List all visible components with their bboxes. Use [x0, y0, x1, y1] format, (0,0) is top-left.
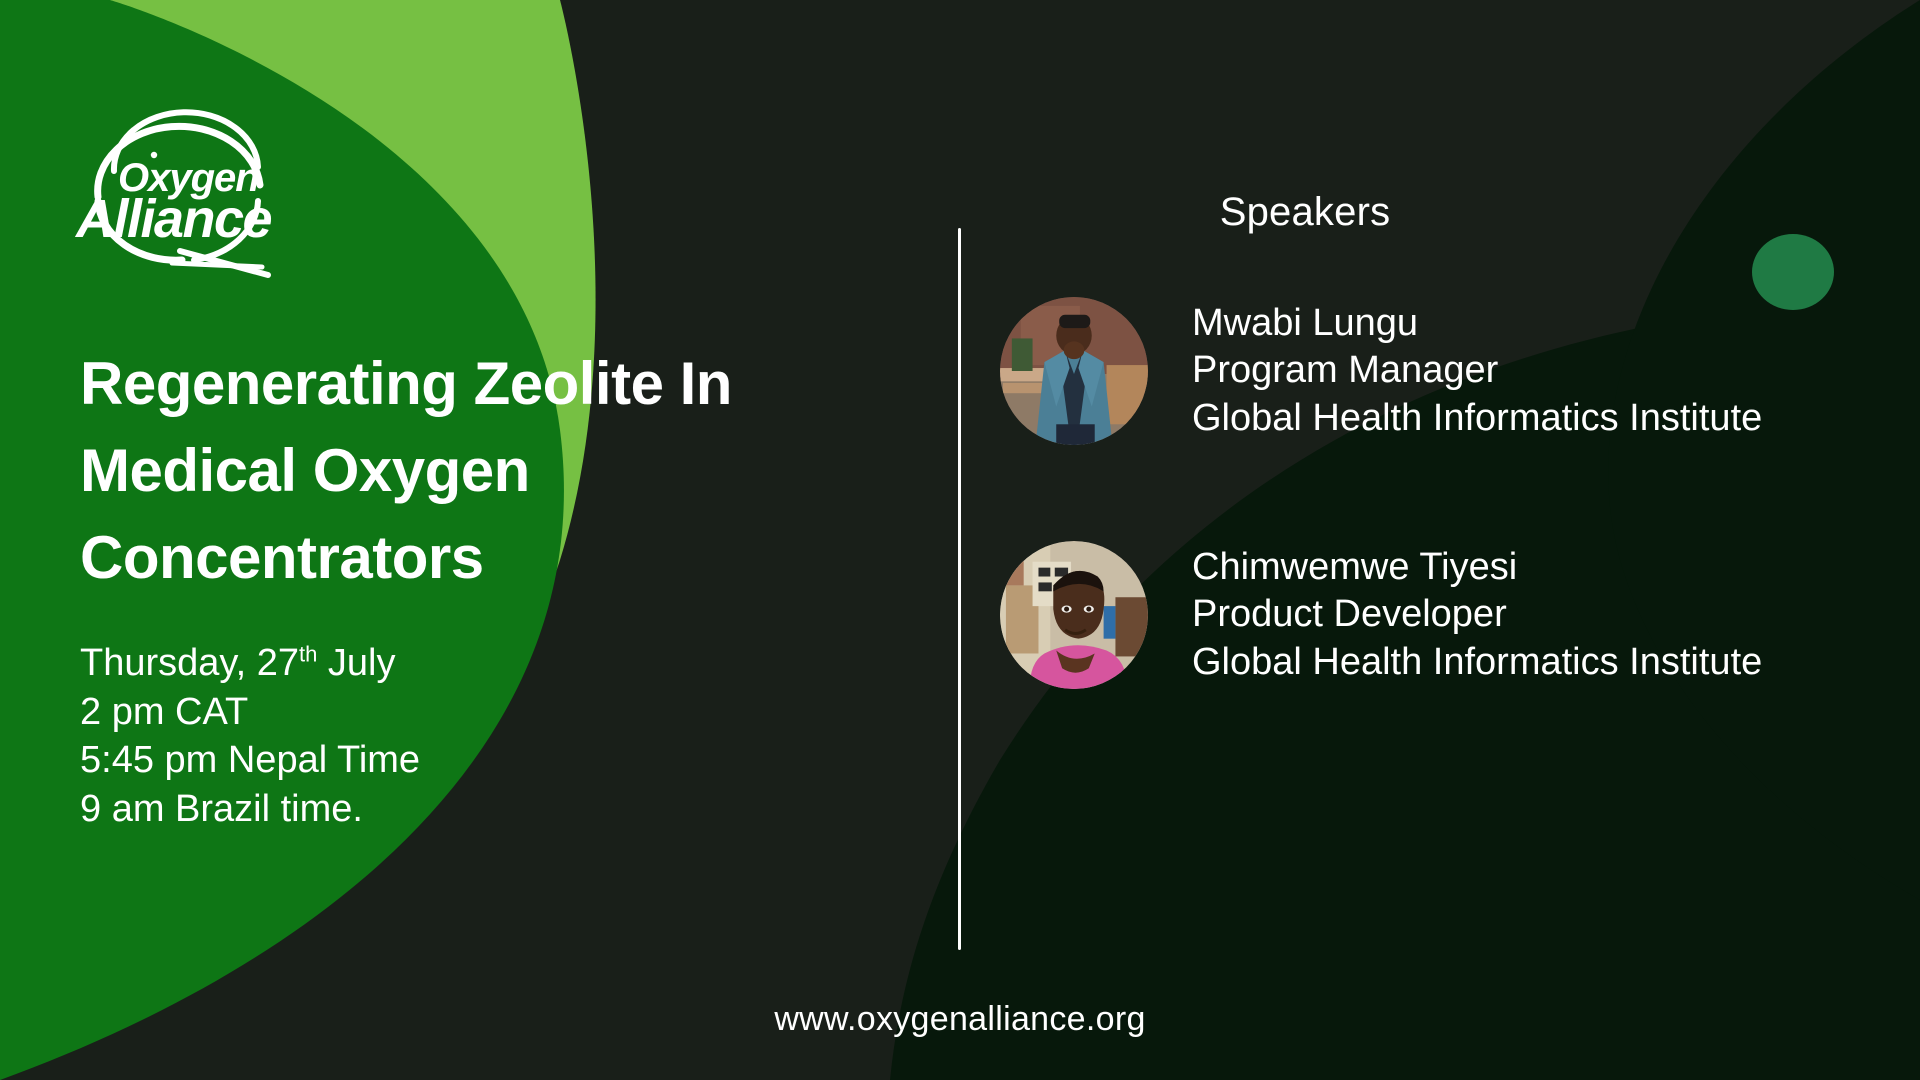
- title-line-1: Regenerating Zeolite In: [80, 340, 880, 427]
- speaker-info: Chimwemwe Tiyesi Product Developer Globa…: [1192, 544, 1762, 685]
- speakers-heading: Speakers: [1070, 190, 1540, 235]
- event-time-cat: 2 pm CAT: [80, 688, 880, 737]
- website-url[interactable]: www.oxygenalliance.org: [0, 1000, 1920, 1039]
- speaker-organization: Global Health Informatics Institute: [1192, 395, 1762, 442]
- speaker-organization: Global Health Informatics Institute: [1192, 639, 1762, 686]
- speaker-photo-chimwemwe-tiyesi-icon: [1000, 541, 1148, 689]
- event-time-nepal: 5:45 pm Nepal Time: [80, 736, 880, 785]
- title-line-3: Concentrators: [80, 514, 880, 601]
- title-line-2: Medical Oxygen: [80, 427, 880, 514]
- speaker-role: Program Manager: [1192, 347, 1762, 394]
- oxygen-alliance-logo: Oxygen Alliance: [62, 105, 302, 280]
- event-date-ordinal: th: [299, 641, 317, 666]
- avatar: [1000, 541, 1148, 689]
- speaker-info: Mwabi Lungu Program Manager Global Healt…: [1192, 300, 1762, 441]
- speaker-photo-mwabi-lungu-icon: [1000, 297, 1148, 445]
- event-date: Thursday, 27th July: [80, 639, 880, 688]
- left-content-column: Regenerating Zeolite In Medical Oxygen C…: [80, 340, 880, 834]
- webinar-promo-poster: Oxygen Alliance Regenerating Zeolite In …: [0, 0, 1920, 1080]
- logo-o2-dot-icon: [151, 152, 157, 158]
- speaker-role: Product Developer: [1192, 591, 1762, 638]
- speaker-name: Mwabi Lungu: [1192, 300, 1762, 347]
- speaker-card: Mwabi Lungu Program Manager Global Healt…: [1000, 297, 1880, 445]
- avatar: [1000, 297, 1148, 445]
- page-title: Regenerating Zeolite In Medical Oxygen C…: [80, 340, 880, 601]
- logo-word-alliance: Alliance: [74, 189, 272, 249]
- speaker-card: Chimwemwe Tiyesi Product Developer Globa…: [1000, 541, 1880, 689]
- vertical-divider: [958, 228, 961, 950]
- event-date-prefix: Thursday, 27: [80, 642, 299, 684]
- event-time-brazil: 9 am Brazil time.: [80, 785, 880, 834]
- speaker-name: Chimwemwe Tiyesi: [1192, 544, 1762, 591]
- event-date-suffix: July: [317, 642, 395, 684]
- speakers-column: Speakers: [1000, 190, 1880, 785]
- event-datetime-block: Thursday, 27th July 2 pm CAT 5:45 pm Nep…: [80, 639, 880, 834]
